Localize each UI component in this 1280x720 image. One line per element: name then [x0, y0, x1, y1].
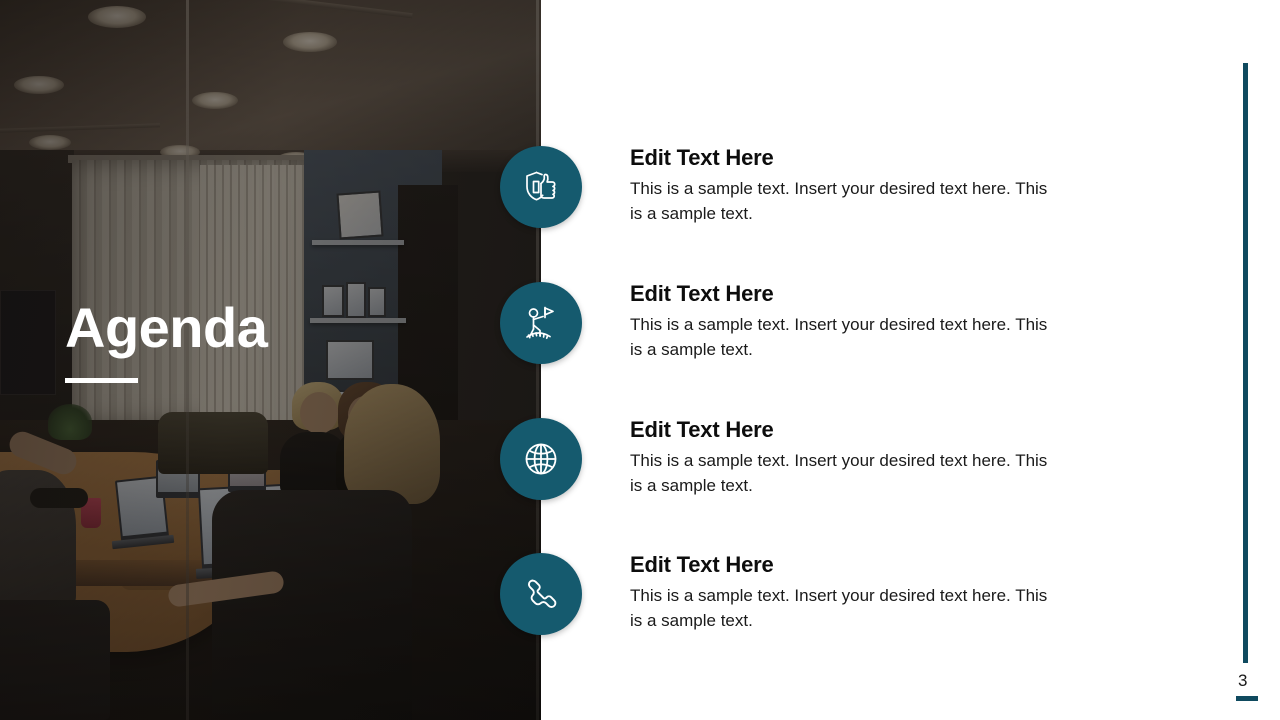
shelf-book — [368, 287, 386, 317]
page-number: 3 — [1238, 672, 1247, 689]
agenda-item-3[interactable]: Edit Text Here This is a sample text. In… — [500, 416, 1280, 526]
shelf-book — [346, 282, 366, 318]
person-head — [300, 392, 338, 434]
agenda-item-title: Edit Text Here — [630, 551, 1060, 579]
agenda-item-title: Edit Text Here — [630, 416, 1060, 444]
person-hair — [344, 384, 440, 504]
globe-icon[interactable] — [500, 418, 582, 500]
picture-frame — [336, 191, 383, 240]
agenda-items: Edit Text Here This is a sample text. In… — [500, 0, 1280, 720]
shelf-frame — [326, 340, 374, 380]
page-title: Agenda — [65, 300, 267, 356]
office-chair-foreground — [212, 490, 412, 720]
ceiling-light — [29, 135, 71, 150]
agenda-item-description: This is a sample text. Insert your desir… — [630, 448, 1060, 499]
wall-shelf — [312, 240, 404, 245]
agenda-item-text: Edit Text Here This is a sample text. In… — [630, 144, 1060, 227]
phone-handset-icon[interactable] — [500, 553, 582, 635]
ceiling-light — [283, 32, 337, 52]
ceiling-light — [192, 92, 238, 109]
agenda-item-description: This is a sample text. Insert your desir… — [630, 583, 1060, 634]
title-block: Agenda — [65, 300, 267, 383]
shelf-book — [322, 285, 344, 317]
right-accent-line — [1243, 63, 1248, 663]
shield-thumbs-up-icon[interactable] — [500, 146, 582, 228]
agenda-item-description: This is a sample text. Insert your desir… — [630, 176, 1060, 227]
ceiling-light — [88, 6, 146, 28]
agenda-item-text: Edit Text Here This is a sample text. In… — [630, 551, 1060, 634]
ceiling — [0, 0, 541, 165]
agenda-item-1[interactable]: Edit Text Here This is a sample text. In… — [500, 144, 1280, 254]
title-underline — [65, 378, 138, 383]
office-chair — [158, 412, 268, 474]
page-number-underline — [1236, 696, 1258, 701]
ceiling-light — [14, 76, 64, 94]
agenda-item-description: This is a sample text. Insert your desir… — [630, 312, 1060, 363]
agenda-item-4[interactable]: Edit Text Here This is a sample text. In… — [500, 551, 1280, 661]
agenda-item-title: Edit Text Here — [630, 280, 1060, 308]
flag-summit-achievement-icon[interactable] — [500, 282, 582, 364]
wall-display — [0, 290, 56, 395]
agenda-slide: Agenda Edit Text Here This is a sample t… — [0, 0, 1280, 720]
office-chair — [0, 600, 110, 720]
potted-plant — [48, 404, 92, 440]
agenda-item-2[interactable]: Edit Text Here This is a sample text. In… — [500, 280, 1280, 390]
agenda-item-text: Edit Text Here This is a sample text. In… — [630, 280, 1060, 363]
watch-strap — [30, 488, 88, 508]
agenda-item-text: Edit Text Here This is a sample text. In… — [630, 416, 1060, 499]
wall-shelf — [310, 318, 406, 323]
agenda-item-title: Edit Text Here — [630, 144, 1060, 172]
